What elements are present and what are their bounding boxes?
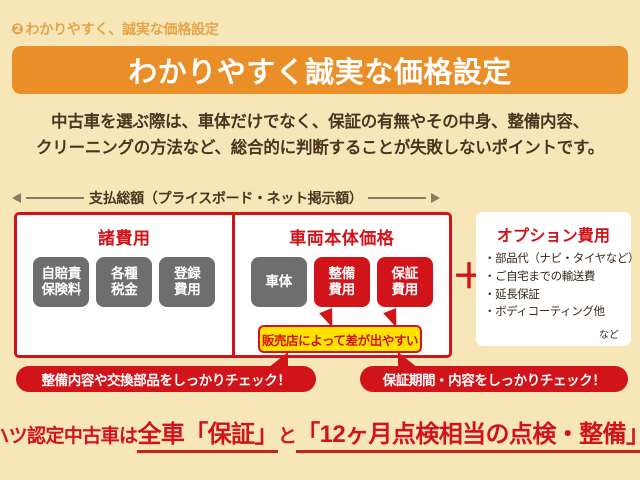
- section-title-bar: わかりやすく誠実な価格設定: [12, 46, 628, 94]
- misc-fees-heading: 諸費用: [98, 224, 151, 249]
- arrow-line-right: [368, 197, 426, 199]
- section-number-badge: ❷: [11, 22, 24, 37]
- arrow-line-left: [26, 197, 84, 199]
- lead-line-2: クリーニングの方法など、総合的に判断することが失敗しないポイントです。: [0, 136, 640, 162]
- chip-line-1: 各種: [111, 266, 137, 282]
- bottom-part-3: と: [278, 421, 296, 448]
- chip-maintenance-fee: 整備 費用: [314, 257, 370, 307]
- section-eyebrow: ❷ わかりやすく、誠実な価格設定: [11, 19, 219, 39]
- vehicle-price-heading: 車両本体価格: [289, 224, 394, 249]
- option-fees-suffix: など: [484, 326, 623, 341]
- banner-check-warranty-text: 保証期間・内容をしっかりチェック！: [383, 369, 606, 389]
- chip-registration-fee: 登録 費用: [159, 257, 215, 307]
- list-item: ・延長保証: [484, 287, 623, 305]
- lead-line-1: 中古車を選ぶ際は、車体だけでなく、保証の有無やその中身、整備内容、: [0, 110, 640, 136]
- option-fees-list: ・部品代（ナビ・タイヤなど） ・ご自宅までの輸送費 ・延長保証 ・ボディコーティ…: [484, 251, 623, 322]
- list-item: ・部品代（ナビ・タイヤなど）: [484, 251, 623, 269]
- bottom-statement: ダイハツ認定中古車は 全車「保証」 と 「12ヶ月点検相当の点検・整備」 付き: [0, 414, 640, 453]
- chip-line-2: 税金: [111, 282, 137, 298]
- banner-check-warranty: 保証期間・内容をしっかりチェック！: [360, 366, 628, 392]
- bottom-part-1: ダイハツ認定中古車は: [0, 421, 137, 448]
- total-amount-label: 支払総額（プライスボード・ネット掲示額）: [89, 188, 363, 208]
- section-eyebrow-label: わかりやすく、誠実な価格設定: [26, 19, 219, 39]
- chip-line-1: 車体: [266, 274, 292, 290]
- chip-compulsory-insurance: 自賠責 保険料: [33, 257, 89, 307]
- chip-line-2: 費用: [174, 282, 200, 298]
- chip-line-2: 費用: [329, 282, 355, 298]
- arrow-right-icon: [431, 193, 440, 203]
- chip-line-1: 登録: [174, 266, 200, 282]
- option-fees-heading: オプション費用: [484, 222, 623, 246]
- chip-line-1: 整備: [329, 266, 355, 282]
- banner-check-maintenance-text: 整備内容や交換部品をしっかりチェック！: [42, 369, 291, 389]
- vehicle-price-chip-list: 車体 整備 費用 保証 費用: [251, 257, 433, 307]
- chip-line-1: 保証: [392, 266, 418, 282]
- chip-warranty-fee: 保証 費用: [377, 257, 433, 307]
- chip-taxes: 各種 税金: [96, 257, 152, 307]
- chip-line-2: 費用: [392, 282, 418, 298]
- chip-line-2: 保険料: [41, 282, 81, 298]
- chip-line-1: 自賠責: [41, 266, 81, 282]
- dealer-variance-callout-text: 販売店によって差が出やすい: [262, 330, 418, 349]
- infographic-page: ❷ わかりやすく、誠実な価格設定 わかりやすく誠実な価格設定 中古車を選ぶ際は、…: [0, 0, 640, 480]
- bottom-part-2-warranty: 全車「保証」: [137, 414, 277, 453]
- chip-vehicle-body: 車体: [251, 257, 307, 307]
- total-amount-arrow: 支払総額（プライスボード・ネット掲示額）: [12, 188, 447, 208]
- misc-fees-chip-list: 自賠責 保険料 各種 税金 登録 費用: [33, 257, 215, 307]
- bottom-part-4-inspection: 「12ヶ月点検相当の点検・整備」: [296, 414, 640, 453]
- list-item: ・ボディコーティング他: [484, 304, 623, 322]
- arrow-left-icon: [12, 193, 21, 203]
- option-fees-panel: オプション費用 ・部品代（ナビ・タイヤなど） ・ご自宅までの輸送費 ・延長保証 …: [476, 212, 631, 346]
- page-title: わかりやすく誠実な価格設定: [128, 49, 512, 91]
- misc-fees-column: 諸費用 自賠責 保険料 各種 税金 登録 費用: [17, 215, 235, 355]
- plus-icon: ＋: [452, 266, 476, 290]
- lead-paragraph: 中古車を選ぶ際は、車体だけでなく、保証の有無やその中身、整備内容、 クリーニング…: [0, 110, 640, 161]
- dealer-variance-callout: 販売店によって差が出やすい: [258, 325, 422, 353]
- banner-check-maintenance: 整備内容や交換部品をしっかりチェック！: [16, 366, 316, 392]
- list-item: ・ご自宅までの輸送費: [484, 269, 623, 287]
